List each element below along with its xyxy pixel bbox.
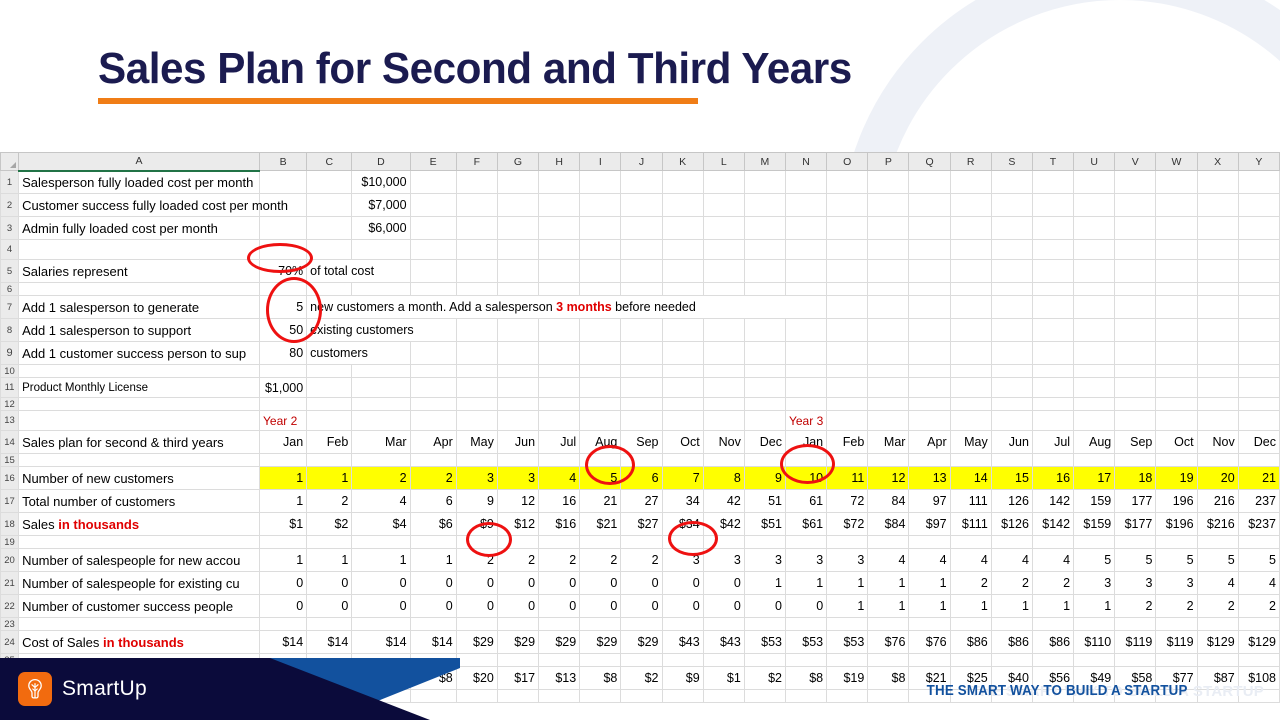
cell-d12[interactable] bbox=[352, 398, 410, 411]
row-header-2[interactable]: 2 bbox=[1, 194, 19, 217]
row-header-22[interactable]: 22 bbox=[1, 595, 19, 618]
cell-y3[interactable] bbox=[1238, 217, 1279, 240]
cell-r17-c21[interactable]: 196 bbox=[1156, 490, 1197, 513]
cell-r21-c4[interactable]: 0 bbox=[456, 572, 497, 595]
cell-r20-c20[interactable]: 5 bbox=[1115, 549, 1156, 572]
month-header-0[interactable]: Jan bbox=[260, 431, 307, 454]
month-header-17[interactable]: Jun bbox=[991, 431, 1032, 454]
row-label-18[interactable]: Sales in thousands bbox=[19, 513, 260, 536]
cell-i8[interactable] bbox=[580, 319, 621, 342]
table-row[interactable]: 9 Add 1 customer success person to sup 8… bbox=[1, 342, 1280, 365]
cell-t7[interactable] bbox=[1032, 296, 1073, 319]
cell-r21-c15[interactable]: 1 bbox=[909, 572, 950, 595]
cell-a23[interactable] bbox=[19, 618, 260, 631]
cell-j9[interactable] bbox=[621, 342, 662, 365]
cell-r18-c23[interactable]: $237 bbox=[1238, 513, 1279, 536]
cell-w9[interactable] bbox=[1156, 342, 1197, 365]
cell-r24-c17[interactable]: $86 bbox=[991, 631, 1032, 654]
row-header-21[interactable]: 21 bbox=[1, 572, 19, 595]
cell-t5[interactable] bbox=[1032, 260, 1073, 283]
cell-x12[interactable] bbox=[1197, 398, 1238, 411]
cell-q8[interactable] bbox=[909, 319, 950, 342]
cell-y9[interactable] bbox=[1238, 342, 1279, 365]
column-header-y[interactable]: Y bbox=[1238, 153, 1279, 171]
cell-r17-c6[interactable]: 16 bbox=[539, 490, 580, 513]
column-header-k[interactable]: K bbox=[662, 153, 703, 171]
cell-y8[interactable] bbox=[1238, 319, 1279, 342]
cell-m2[interactable] bbox=[744, 194, 785, 217]
cell-k1[interactable] bbox=[662, 171, 703, 194]
cell-a12[interactable] bbox=[19, 398, 260, 411]
column-header-o[interactable]: O bbox=[827, 153, 868, 171]
cell-r3[interactable] bbox=[950, 217, 991, 240]
cell-r20-c3[interactable]: 1 bbox=[410, 549, 456, 572]
cell-e9[interactable] bbox=[410, 342, 456, 365]
cell-r8[interactable] bbox=[950, 319, 991, 342]
cell-r24-c3[interactable]: $14 bbox=[410, 631, 456, 654]
cell-q12[interactable] bbox=[909, 398, 950, 411]
cell-r24-c5[interactable]: $29 bbox=[497, 631, 538, 654]
cell-r17-c10[interactable]: 42 bbox=[703, 490, 744, 513]
cell-r17-c5[interactable]: 12 bbox=[497, 490, 538, 513]
cell-d15[interactable] bbox=[352, 454, 410, 467]
cell-r20-c21[interactable]: 5 bbox=[1156, 549, 1197, 572]
cell-f2[interactable] bbox=[456, 194, 497, 217]
cell-u5[interactable] bbox=[1074, 260, 1115, 283]
cell-r21-c3[interactable]: 0 bbox=[410, 572, 456, 595]
cell-f4[interactable] bbox=[456, 240, 497, 260]
cell-b11-value[interactable]: $1,000 bbox=[260, 378, 307, 398]
cell-s3[interactable] bbox=[991, 217, 1032, 240]
column-header-n[interactable]: N bbox=[785, 153, 826, 171]
cell-d11[interactable] bbox=[352, 378, 410, 398]
row-label-20[interactable]: Number of salespeople for new accou bbox=[19, 549, 260, 572]
cell-r18-c3[interactable]: $6 bbox=[410, 513, 456, 536]
cell-r16-c18[interactable]: 16 bbox=[1032, 467, 1073, 490]
table-row[interactable]: 11 Product Monthly License $1,000 bbox=[1, 378, 1280, 398]
data-block-customers[interactable]: 16Number of new customers112233456789101… bbox=[1, 467, 1280, 536]
cell-i2[interactable] bbox=[580, 194, 621, 217]
table-row[interactable]: 5 Salaries represent 70% of total cost bbox=[1, 260, 1280, 283]
cell-x3[interactable] bbox=[1197, 217, 1238, 240]
cell-f19[interactable] bbox=[456, 536, 497, 549]
cell-r21-c10[interactable]: 0 bbox=[703, 572, 744, 595]
cell-y19[interactable] bbox=[1238, 536, 1279, 549]
cell-c11[interactable] bbox=[307, 378, 352, 398]
cell-v8[interactable] bbox=[1115, 319, 1156, 342]
row-label-21[interactable]: Number of salespeople for existing cu bbox=[19, 572, 260, 595]
cell-r20-c2[interactable]: 1 bbox=[352, 549, 410, 572]
cell-u11[interactable] bbox=[1074, 378, 1115, 398]
cell-m1[interactable] bbox=[744, 171, 785, 194]
cell-w13[interactable] bbox=[1156, 411, 1197, 431]
cell-r18-c14[interactable]: $84 bbox=[868, 513, 909, 536]
cell-t23[interactable] bbox=[1032, 618, 1073, 631]
cell-r22-c8[interactable]: 0 bbox=[621, 595, 662, 618]
cell-b4[interactable] bbox=[260, 240, 307, 260]
cell-w23[interactable] bbox=[1156, 618, 1197, 631]
cell-r12[interactable] bbox=[950, 398, 991, 411]
cell-m9[interactable] bbox=[744, 342, 785, 365]
month-header-1[interactable]: Feb bbox=[307, 431, 352, 454]
column-header-a[interactable]: A bbox=[19, 153, 260, 171]
table-row[interactable]: 16Number of new customers112233456789101… bbox=[1, 467, 1280, 490]
cell-b10[interactable] bbox=[260, 365, 307, 378]
column-header-t[interactable]: T bbox=[1032, 153, 1073, 171]
cell-k6[interactable] bbox=[662, 283, 703, 296]
cell-l12[interactable] bbox=[703, 398, 744, 411]
cell-r20-c1[interactable]: 1 bbox=[307, 549, 352, 572]
table-row[interactable]: 1 Salesperson fully loaded cost per mont… bbox=[1, 171, 1280, 194]
cell-b6[interactable] bbox=[260, 283, 307, 296]
cell-w11[interactable] bbox=[1156, 378, 1197, 398]
spreadsheet[interactable]: A B C D E F G H I J K L M N O P Q R S T bbox=[0, 152, 1280, 703]
cell-k9[interactable] bbox=[662, 342, 703, 365]
cell-p12[interactable] bbox=[868, 398, 909, 411]
column-header-d[interactable]: D bbox=[352, 153, 410, 171]
cell-f15[interactable] bbox=[456, 454, 497, 467]
cell-r22-c15[interactable]: 1 bbox=[909, 595, 950, 618]
cell-r20-c10[interactable]: 3 bbox=[703, 549, 744, 572]
cell-m12[interactable] bbox=[744, 398, 785, 411]
cell-x6[interactable] bbox=[1197, 283, 1238, 296]
cell-r17-c0[interactable]: 1 bbox=[260, 490, 307, 513]
cell-r16-c2[interactable]: 2 bbox=[352, 467, 410, 490]
cell-c5-suffix[interactable]: of total cost bbox=[307, 260, 410, 283]
row-header-9[interactable]: 9 bbox=[1, 342, 19, 365]
cell-r22-c19[interactable]: 1 bbox=[1074, 595, 1115, 618]
cell-f1[interactable] bbox=[456, 171, 497, 194]
cell-r21-c16[interactable]: 2 bbox=[950, 572, 991, 595]
cell-c8-suffix[interactable]: existing customers bbox=[307, 319, 457, 342]
cell-n19[interactable] bbox=[785, 536, 826, 549]
cell-k23[interactable] bbox=[662, 618, 703, 631]
cell-u10[interactable] bbox=[1074, 365, 1115, 378]
table-row[interactable]: 22Number of customer success people00000… bbox=[1, 595, 1280, 618]
cell-r21-c23[interactable]: 4 bbox=[1238, 572, 1279, 595]
cell-i4[interactable] bbox=[580, 240, 621, 260]
cell-h4[interactable] bbox=[539, 240, 580, 260]
cell-r13[interactable] bbox=[950, 411, 991, 431]
cell-r20-c6[interactable]: 2 bbox=[539, 549, 580, 572]
cell-q11[interactable] bbox=[909, 378, 950, 398]
cell-c1[interactable] bbox=[307, 171, 352, 194]
cell-w5[interactable] bbox=[1156, 260, 1197, 283]
cell-r16-c21[interactable]: 19 bbox=[1156, 467, 1197, 490]
cell-f6[interactable] bbox=[456, 283, 497, 296]
cell-r21-c17[interactable]: 2 bbox=[991, 572, 1032, 595]
cell-k2[interactable] bbox=[662, 194, 703, 217]
cell-r21-c5[interactable]: 0 bbox=[497, 572, 538, 595]
cell-u15[interactable] bbox=[1074, 454, 1115, 467]
cell-r22-c14[interactable]: 1 bbox=[868, 595, 909, 618]
cell-g2[interactable] bbox=[497, 194, 538, 217]
cell-r22-c12[interactable]: 0 bbox=[785, 595, 826, 618]
row-header-3[interactable]: 3 bbox=[1, 217, 19, 240]
cell-r17-c7[interactable]: 21 bbox=[580, 490, 621, 513]
cell-r21-c1[interactable]: 0 bbox=[307, 572, 352, 595]
cell-f5[interactable] bbox=[456, 260, 497, 283]
cell-v15[interactable] bbox=[1115, 454, 1156, 467]
cell-k11[interactable] bbox=[662, 378, 703, 398]
cell-h9[interactable] bbox=[539, 342, 580, 365]
cell-a13[interactable] bbox=[19, 411, 260, 431]
cell-u1[interactable] bbox=[1074, 171, 1115, 194]
cell-x2[interactable] bbox=[1197, 194, 1238, 217]
cell-r18-c4[interactable]: $9 bbox=[456, 513, 497, 536]
cell-r22-c5[interactable]: 0 bbox=[497, 595, 538, 618]
cell-c23[interactable] bbox=[307, 618, 352, 631]
cell-r24-c9[interactable]: $43 bbox=[662, 631, 703, 654]
cell-l3[interactable] bbox=[703, 217, 744, 240]
cell-f9[interactable] bbox=[456, 342, 497, 365]
month-header-2[interactable]: Mar bbox=[352, 431, 410, 454]
cell-a7-label[interactable]: Add 1 salesperson to generate bbox=[19, 296, 260, 319]
cell-l9[interactable] bbox=[703, 342, 744, 365]
cell-d1-value[interactable]: $10,000 bbox=[352, 171, 410, 194]
cell-y15[interactable] bbox=[1238, 454, 1279, 467]
column-header-e[interactable]: E bbox=[410, 153, 456, 171]
cell-n6[interactable] bbox=[785, 283, 826, 296]
cell-f13[interactable] bbox=[456, 411, 497, 431]
cell-q15[interactable] bbox=[909, 454, 950, 467]
cell-q10[interactable] bbox=[909, 365, 950, 378]
cell-r22-c23[interactable]: 2 bbox=[1238, 595, 1279, 618]
cell-i1[interactable] bbox=[580, 171, 621, 194]
cell-n1[interactable] bbox=[785, 171, 826, 194]
row-header-17[interactable]: 17 bbox=[1, 490, 19, 513]
cell-g19[interactable] bbox=[497, 536, 538, 549]
cell-x5[interactable] bbox=[1197, 260, 1238, 283]
cell-r21-c19[interactable]: 3 bbox=[1074, 572, 1115, 595]
cell-q6[interactable] bbox=[909, 283, 950, 296]
cell-r16-c9[interactable]: 7 bbox=[662, 467, 703, 490]
cell-k3[interactable] bbox=[662, 217, 703, 240]
cell-t6[interactable] bbox=[1032, 283, 1073, 296]
cell-e19[interactable] bbox=[410, 536, 456, 549]
cell-t11[interactable] bbox=[1032, 378, 1073, 398]
cell-i12[interactable] bbox=[580, 398, 621, 411]
cell-l19[interactable] bbox=[703, 536, 744, 549]
cell-r24-c14[interactable]: $76 bbox=[868, 631, 909, 654]
cell-a2-label[interactable]: Customer success fully loaded cost per m… bbox=[19, 194, 260, 217]
cell-y7[interactable] bbox=[1238, 296, 1279, 319]
cell-i15[interactable] bbox=[580, 454, 621, 467]
row-header-8[interactable]: 8 bbox=[1, 319, 19, 342]
cell-h3[interactable] bbox=[539, 217, 580, 240]
cell-r20-c0[interactable]: 1 bbox=[260, 549, 307, 572]
cell-k19[interactable] bbox=[662, 536, 703, 549]
cell-k13[interactable] bbox=[662, 411, 703, 431]
cell-r17-c15[interactable]: 97 bbox=[909, 490, 950, 513]
cell-o13[interactable] bbox=[827, 411, 868, 431]
cell-j12[interactable] bbox=[621, 398, 662, 411]
cell-m6[interactable] bbox=[744, 283, 785, 296]
cell-i5[interactable] bbox=[580, 260, 621, 283]
cell-s4[interactable] bbox=[991, 240, 1032, 260]
cell-j3[interactable] bbox=[621, 217, 662, 240]
cell-r22-c18[interactable]: 1 bbox=[1032, 595, 1073, 618]
cell-q9[interactable] bbox=[909, 342, 950, 365]
column-header-s[interactable]: S bbox=[991, 153, 1032, 171]
cell-r24-c10[interactable]: $43 bbox=[703, 631, 744, 654]
cell-v12[interactable] bbox=[1115, 398, 1156, 411]
cell-r21-c20[interactable]: 3 bbox=[1115, 572, 1156, 595]
cell-a3-label[interactable]: Admin fully loaded cost per month bbox=[19, 217, 260, 240]
select-all-corner[interactable] bbox=[1, 153, 19, 171]
cell-s1[interactable] bbox=[991, 171, 1032, 194]
plan-title-cell[interactable]: Sales plan for second & third years bbox=[19, 431, 260, 454]
cell-u9[interactable] bbox=[1074, 342, 1115, 365]
cell-d4[interactable] bbox=[352, 240, 410, 260]
row-label-24[interactable]: Cost of Sales in thousands bbox=[19, 631, 260, 654]
cell-y2[interactable] bbox=[1238, 194, 1279, 217]
cell-r22-c17[interactable]: 1 bbox=[991, 595, 1032, 618]
cell-r21-c2[interactable]: 0 bbox=[352, 572, 410, 595]
cell-v3[interactable] bbox=[1115, 217, 1156, 240]
cell-o23[interactable] bbox=[827, 618, 868, 631]
cell-w2[interactable] bbox=[1156, 194, 1197, 217]
cell-o3[interactable] bbox=[827, 217, 868, 240]
cell-x1[interactable] bbox=[1197, 171, 1238, 194]
cell-r16-c4[interactable]: 3 bbox=[456, 467, 497, 490]
cell-a10[interactable] bbox=[19, 365, 260, 378]
row-label-16[interactable]: Number of new customers bbox=[19, 467, 260, 490]
table-row[interactable]: 21Number of salespeople for existing cu0… bbox=[1, 572, 1280, 595]
cell-b23[interactable] bbox=[260, 618, 307, 631]
cell-r18-c8[interactable]: $27 bbox=[621, 513, 662, 536]
cell-u8[interactable] bbox=[1074, 319, 1115, 342]
column-header-l[interactable]: L bbox=[703, 153, 744, 171]
month-header-18[interactable]: Jul bbox=[1032, 431, 1073, 454]
cell-r24-c7[interactable]: $29 bbox=[580, 631, 621, 654]
cell-y13[interactable] bbox=[1238, 411, 1279, 431]
row-header-19[interactable]: 19 bbox=[1, 536, 19, 549]
cell-p6[interactable] bbox=[868, 283, 909, 296]
cell-r22-c1[interactable]: 0 bbox=[307, 595, 352, 618]
cell-o9[interactable] bbox=[827, 342, 868, 365]
cell-p2[interactable] bbox=[868, 194, 909, 217]
row-header-13[interactable]: 13 bbox=[1, 411, 19, 431]
cell-r16-c13[interactable]: 11 bbox=[827, 467, 868, 490]
cell-q23[interactable] bbox=[909, 618, 950, 631]
cell-v2[interactable] bbox=[1115, 194, 1156, 217]
row-header-24[interactable]: 24 bbox=[1, 631, 19, 654]
cell-t10[interactable] bbox=[1032, 365, 1073, 378]
cell-w10[interactable] bbox=[1156, 365, 1197, 378]
cell-h8[interactable] bbox=[539, 319, 580, 342]
cell-r18-c19[interactable]: $159 bbox=[1074, 513, 1115, 536]
cell-r17-c4[interactable]: 9 bbox=[456, 490, 497, 513]
cell-r22-c11[interactable]: 0 bbox=[744, 595, 785, 618]
cell-r19[interactable] bbox=[950, 536, 991, 549]
cell-r20-c14[interactable]: 4 bbox=[868, 549, 909, 572]
cell-a19[interactable] bbox=[19, 536, 260, 549]
cell-r20-c19[interactable]: 5 bbox=[1074, 549, 1115, 572]
cell-r21-c6[interactable]: 0 bbox=[539, 572, 580, 595]
cell-r16-c22[interactable]: 20 bbox=[1197, 467, 1238, 490]
cell-r20-c8[interactable]: 2 bbox=[621, 549, 662, 572]
cell-t3[interactable] bbox=[1032, 217, 1073, 240]
cell-l1[interactable] bbox=[703, 171, 744, 194]
cell-j1[interactable] bbox=[621, 171, 662, 194]
cell-o11[interactable] bbox=[827, 378, 868, 398]
cell-d13[interactable] bbox=[352, 411, 410, 431]
month-header-23[interactable]: Dec bbox=[1238, 431, 1279, 454]
cell-r6[interactable] bbox=[950, 283, 991, 296]
cell-u3[interactable] bbox=[1074, 217, 1115, 240]
cell-j4[interactable] bbox=[621, 240, 662, 260]
cell-r22-c6[interactable]: 0 bbox=[539, 595, 580, 618]
cell-l6[interactable] bbox=[703, 283, 744, 296]
cell-r17-c23[interactable]: 237 bbox=[1238, 490, 1279, 513]
row-header-16[interactable]: 16 bbox=[1, 467, 19, 490]
month-header-8[interactable]: Sep bbox=[621, 431, 662, 454]
row-header-14[interactable]: 14 bbox=[1, 431, 19, 454]
cell-p9[interactable] bbox=[868, 342, 909, 365]
table-row[interactable]: 8 Add 1 salesperson to support 50 existi… bbox=[1, 319, 1280, 342]
cell-t15[interactable] bbox=[1032, 454, 1073, 467]
row-header-5[interactable]: 5 bbox=[1, 260, 19, 283]
cell-x15[interactable] bbox=[1197, 454, 1238, 467]
cell-m13[interactable] bbox=[744, 411, 785, 431]
month-header-5[interactable]: Jun bbox=[497, 431, 538, 454]
cell-r17-c8[interactable]: 27 bbox=[621, 490, 662, 513]
column-header-i[interactable]: I bbox=[580, 153, 621, 171]
cell-r11[interactable] bbox=[950, 378, 991, 398]
month-header-22[interactable]: Nov bbox=[1197, 431, 1238, 454]
column-header-f[interactable]: F bbox=[456, 153, 497, 171]
cell-r22-c10[interactable]: 0 bbox=[703, 595, 744, 618]
cell-r18-c1[interactable]: $2 bbox=[307, 513, 352, 536]
cell-r20-c11[interactable]: 3 bbox=[744, 549, 785, 572]
cell-q1[interactable] bbox=[909, 171, 950, 194]
cell-r22-c16[interactable]: 1 bbox=[950, 595, 991, 618]
table-row[interactable]: 19 bbox=[1, 536, 1280, 549]
cell-v13[interactable] bbox=[1115, 411, 1156, 431]
cell-v1[interactable] bbox=[1115, 171, 1156, 194]
cell-r20-c13[interactable]: 3 bbox=[827, 549, 868, 572]
row-header-23[interactable]: 23 bbox=[1, 618, 19, 631]
cell-r22-c4[interactable]: 0 bbox=[456, 595, 497, 618]
cell-r20-c5[interactable]: 2 bbox=[497, 549, 538, 572]
cell-j19[interactable] bbox=[621, 536, 662, 549]
cell-d10[interactable] bbox=[352, 365, 410, 378]
cell-u23[interactable] bbox=[1074, 618, 1115, 631]
cell-p15[interactable] bbox=[868, 454, 909, 467]
cell-u12[interactable] bbox=[1074, 398, 1115, 411]
cell-j5[interactable] bbox=[621, 260, 662, 283]
cell-o8[interactable] bbox=[827, 319, 868, 342]
cell-f8[interactable] bbox=[456, 319, 497, 342]
row-header-11[interactable]: 11 bbox=[1, 378, 19, 398]
cell-e11[interactable] bbox=[410, 378, 456, 398]
cell-c12[interactable] bbox=[307, 398, 352, 411]
row-header-7[interactable]: 7 bbox=[1, 296, 19, 319]
month-header-4[interactable]: May bbox=[456, 431, 497, 454]
cell-b15[interactable] bbox=[260, 454, 307, 467]
cell-r24-c11[interactable]: $53 bbox=[744, 631, 785, 654]
cell-r22-c21[interactable]: 2 bbox=[1156, 595, 1197, 618]
cell-r16-c6[interactable]: 4 bbox=[539, 467, 580, 490]
cell-r20-c17[interactable]: 4 bbox=[991, 549, 1032, 572]
cell-f10[interactable] bbox=[456, 365, 497, 378]
cell-r16-c5[interactable]: 3 bbox=[497, 467, 538, 490]
cell-h10[interactable] bbox=[539, 365, 580, 378]
month-header-10[interactable]: Nov bbox=[703, 431, 744, 454]
cell-r16-c19[interactable]: 17 bbox=[1074, 467, 1115, 490]
table-row[interactable]: 14 Sales plan for second & third years J… bbox=[1, 431, 1280, 454]
